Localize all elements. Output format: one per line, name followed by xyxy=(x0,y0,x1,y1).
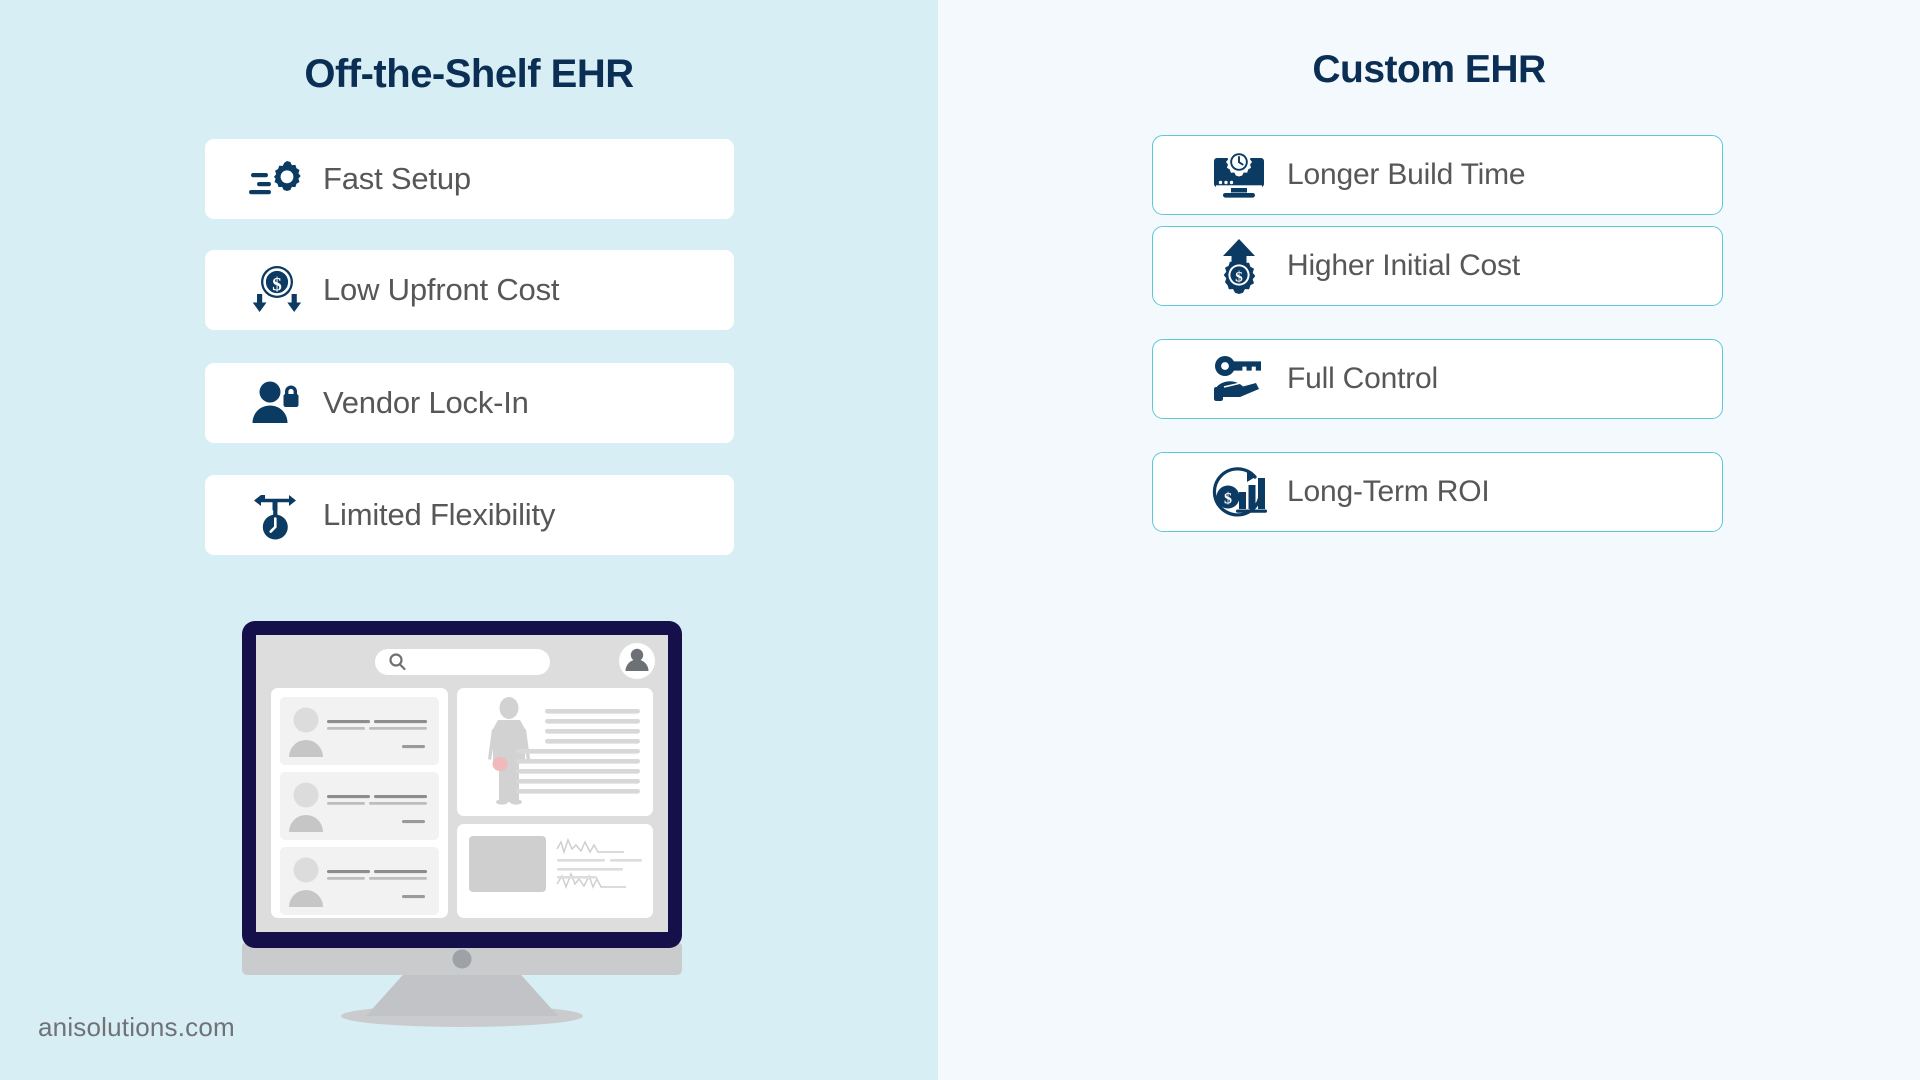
card-label: Low Upfront Cost xyxy=(323,272,559,308)
right-panel-title: Custom EHR xyxy=(938,48,1920,92)
card-label: Fast Setup xyxy=(323,161,471,197)
gear-dollar-up-arrow-icon: $ xyxy=(1211,238,1267,294)
left-panel-title: Off-the-Shelf EHR xyxy=(0,52,938,97)
restricted-clock-icon xyxy=(249,487,305,543)
svg-text:$: $ xyxy=(1235,269,1243,285)
watermark: anisolutions.com xyxy=(38,1012,235,1043)
card-low-upfront-cost[interactable]: $ Low Upfront Cost xyxy=(205,250,734,330)
card-label: Limited Flexibility xyxy=(323,497,555,533)
off-the-shelf-panel: Off-the-Shelf EHR Fast Setup xyxy=(0,0,938,1080)
card-full-control[interactable]: Full Control xyxy=(1152,339,1723,419)
card-label: Long-Term ROI xyxy=(1287,475,1489,509)
card-label: Longer Build Time xyxy=(1287,158,1525,192)
card-fast-setup[interactable]: Fast Setup xyxy=(205,139,734,219)
svg-text:$: $ xyxy=(1224,491,1232,508)
user-lock-icon xyxy=(249,375,305,431)
card-label: Vendor Lock-In xyxy=(323,385,529,421)
desktop-monitor-ehr-mockup xyxy=(212,612,722,1027)
custom-ehr-panel: Custom EHR xyxy=(938,0,1920,1080)
dollar-growth-chart-icon: $ xyxy=(1211,464,1267,520)
card-label: Higher Initial Cost xyxy=(1287,249,1520,283)
card-limited-flexibility[interactable]: Limited Flexibility xyxy=(205,475,734,555)
svg-text:$: $ xyxy=(272,274,282,295)
card-higher-initial-cost[interactable]: $ Higher Initial Cost xyxy=(1152,226,1723,306)
card-vendor-lock-in[interactable]: Vendor Lock-In xyxy=(205,363,734,443)
coin-down-arrows-icon: $ xyxy=(249,262,305,318)
card-longer-build-time[interactable]: Longer Build Time xyxy=(1152,135,1723,215)
card-long-term-roi[interactable]: $ Long-Term ROI xyxy=(1152,452,1723,532)
fast-gear-icon xyxy=(249,151,305,207)
key-hand-icon xyxy=(1211,351,1267,407)
card-label: Full Control xyxy=(1287,362,1438,396)
comparison-infographic: Off-the-Shelf EHR Fast Setup xyxy=(0,0,1920,1080)
monitor-gear-clock-icon xyxy=(1211,147,1267,203)
